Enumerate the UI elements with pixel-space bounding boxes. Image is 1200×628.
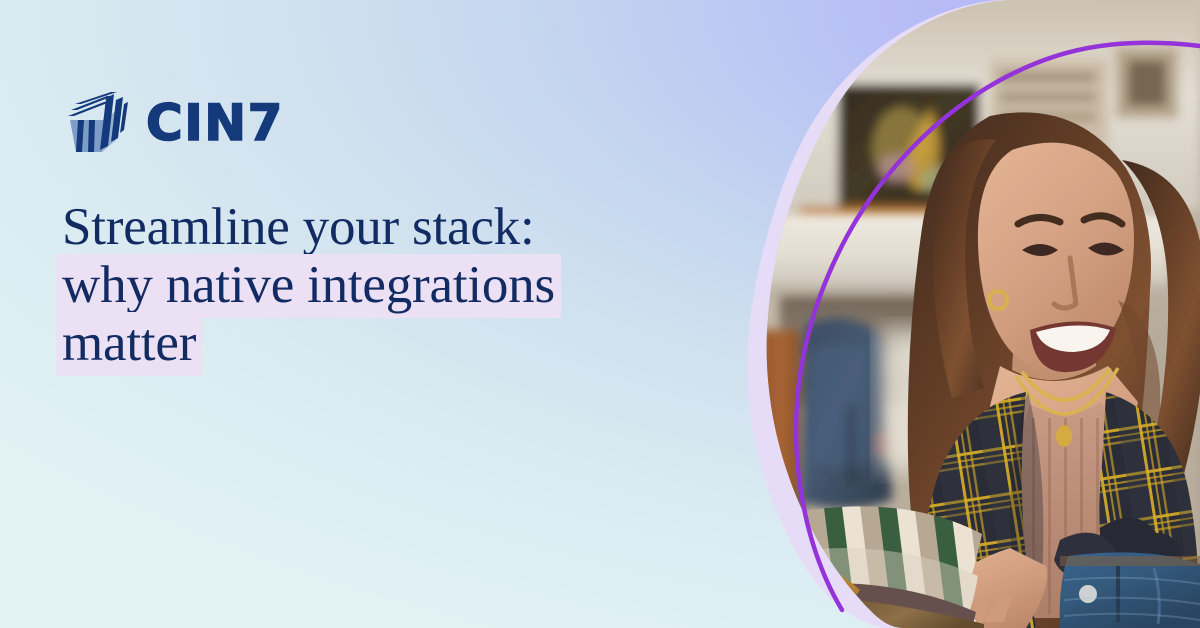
cin7-logo[interactable]: CIN7 — [62, 92, 722, 154]
headline-line-2: why native integrations — [62, 256, 722, 314]
hero-photograph — [692, 0, 1200, 628]
lavender-blob-shape — [747, 0, 1200, 628]
headline-line-1: Streamline your stack: — [62, 198, 722, 256]
headline-text-1: Streamline your stack: — [62, 198, 534, 256]
purple-accent-stroke — [796, 43, 1200, 610]
page-title: Streamline your stack: why native integr… — [62, 198, 722, 372]
banner-content: CIN7 Streamline your stack: why native i… — [62, 92, 722, 372]
cin7-wordmark: CIN7 — [146, 98, 284, 148]
headline-line-3: matter — [62, 314, 722, 372]
blog-banner: CIN7 Streamline your stack: why native i… — [0, 0, 1200, 628]
headline-text-2: why native integrations — [62, 254, 555, 318]
cin7-logo-mark — [62, 92, 128, 154]
headline-text-3: matter — [62, 312, 196, 376]
